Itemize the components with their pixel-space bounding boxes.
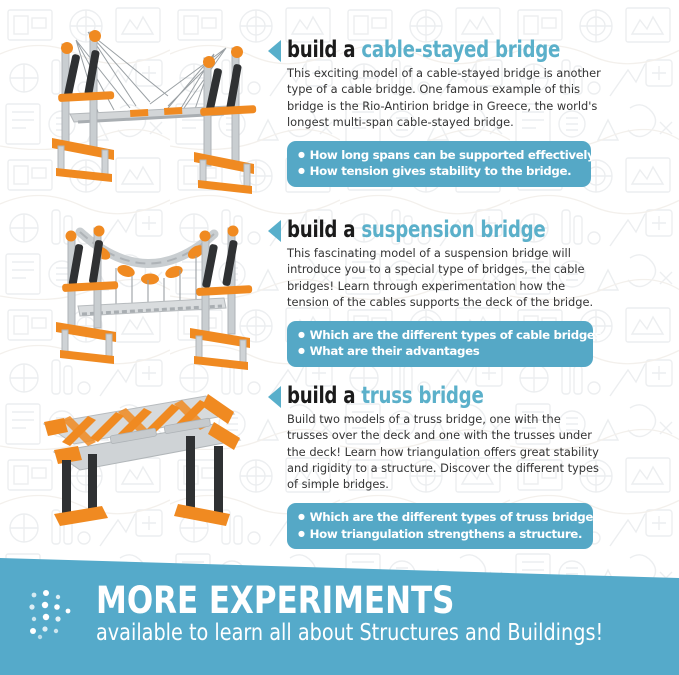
section-cable-stayed: build a cable-stayed bridge This excitin…	[0, 18, 679, 196]
cable-stayed-paragraph: This exciting model of a cable-stayed br…	[287, 65, 605, 130]
question-item: How triangulation strengthens a structur…	[298, 526, 583, 543]
truss-question-box: Which are the different types of truss b…	[287, 503, 593, 549]
question-item: What are their advantages	[298, 343, 583, 360]
cable-stayed-question-box: How long spans can be supported effectiv…	[287, 141, 591, 187]
truss-text-column: build a truss bridge Build two models of…	[268, 384, 668, 549]
suspension-question-box: Which are the different types of cable b…	[287, 321, 593, 367]
heading-prefix: build a	[287, 217, 355, 243]
triangle-bullet-icon	[268, 220, 281, 242]
heading-keyword: suspension bridge	[361, 217, 545, 243]
suspension-bridge-photo	[18, 198, 280, 376]
suspension-paragraph: This fascinating model of a suspension b…	[287, 245, 605, 310]
section-suspension: build a suspension bridge This fascinati…	[0, 198, 679, 376]
section-truss: build a truss bridge Build two models of…	[0, 376, 679, 548]
truss-heading: build a truss bridge	[268, 384, 668, 408]
more-experiments-banner: MORE EXPERIMENTS available to learn all …	[0, 545, 679, 675]
truss-bridge-photo	[18, 376, 280, 548]
banner-title: MORE EXPERIMENTS	[96, 581, 603, 621]
question-item: How tension gives stability to the bridg…	[298, 163, 581, 180]
heading-keyword: cable-stayed bridge	[361, 37, 560, 63]
triangle-bullet-icon	[268, 40, 281, 62]
heading-prefix: build a	[287, 383, 355, 409]
truss-paragraph: Build two models of a truss bridge, one …	[287, 411, 605, 492]
cable-stayed-bridge-photo	[18, 18, 280, 196]
dot-arrow-icon	[24, 585, 80, 645]
product-feature-page: build a cable-stayed bridge This excitin…	[0, 0, 679, 675]
question-item: Which are the different types of cable b…	[298, 327, 583, 344]
heading-keyword: truss bridge	[361, 383, 483, 409]
heading-prefix: build a	[287, 37, 355, 63]
question-item: How long spans can be supported effectiv…	[298, 147, 581, 164]
triangle-bullet-icon	[268, 386, 281, 408]
cable-stayed-text-column: build a cable-stayed bridge This excitin…	[268, 38, 668, 187]
suspension-heading: build a suspension bridge	[268, 218, 668, 242]
suspension-text-column: build a suspension bridge This fascinati…	[268, 218, 668, 367]
banner-subtitle: available to learn all about Structures …	[96, 620, 603, 647]
cable-stayed-heading: build a cable-stayed bridge	[268, 38, 668, 62]
question-item: Which are the different types of truss b…	[298, 509, 583, 526]
